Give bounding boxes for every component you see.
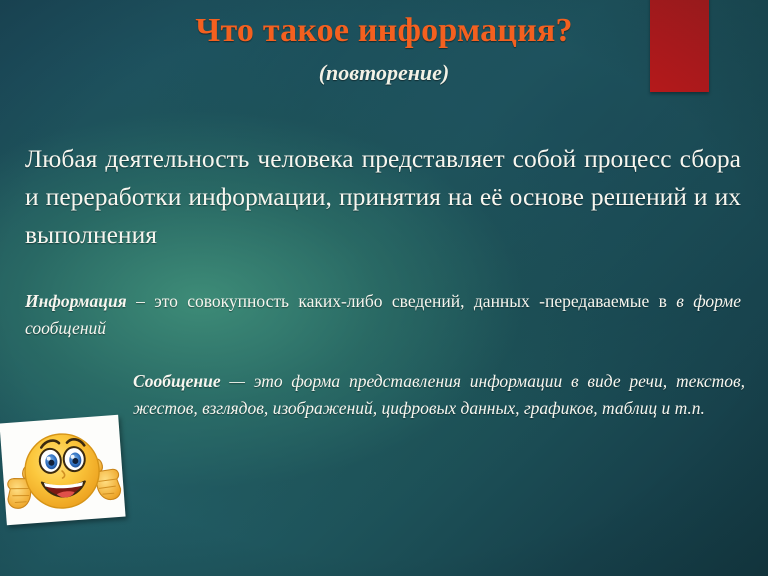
page-title: Что такое информация? (0, 12, 768, 50)
smiley-photo-card (0, 415, 126, 525)
smiley-face-icon (0, 415, 126, 525)
page-subtitle: (повторение) (0, 60, 768, 86)
left-eye (39, 448, 62, 473)
definition-soobschenie-body: — это форма представления информации в в… (133, 371, 745, 418)
definition-informatsiya-body: – это совокупность каких-либо сведений, … (136, 291, 676, 311)
right-eye (63, 446, 86, 471)
term-informatsiya: Информация (25, 291, 127, 311)
paragraph-information: Информация – это совокупность каких-либо… (25, 288, 741, 342)
slide-canvas: Что такое информация? (повторение) Любая… (0, 0, 768, 576)
paragraph-main: Любая деятельность человека представляет… (25, 140, 741, 254)
paragraph-message: Сообщение — это форма представления инфо… (133, 368, 745, 422)
term-soobschenie: Сообщение (133, 371, 221, 391)
